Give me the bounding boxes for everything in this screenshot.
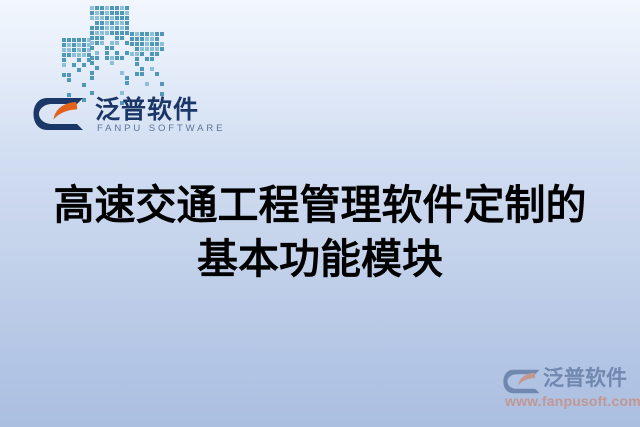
fanpu-logo-name-cn: 泛普软件 bbox=[95, 96, 199, 124]
fanpu-logo-lockup: 泛普软件 FANPU SOFTWARE bbox=[33, 96, 193, 140]
watermark: 泛普软件 www.fanpusoft.com bbox=[503, 366, 637, 418]
fanpu-logo-mark-watermark-icon bbox=[503, 369, 541, 394]
pixel-skyline-graphic bbox=[58, 2, 168, 92]
page-title: 高速交通工程管理软件定制的 基本功能模块 bbox=[0, 178, 640, 286]
fanpu-logo-name-en: FANPU SOFTWARE bbox=[97, 123, 225, 134]
watermark-url: www.fanpusoft.com bbox=[505, 393, 640, 409]
banner-image: 泛普软件 FANPU SOFTWARE 高速交通工程管理软件定制的 基本功能模块… bbox=[0, 0, 640, 427]
fanpu-logo-mark bbox=[33, 97, 85, 131]
watermark-name-cn: 泛普软件 bbox=[543, 366, 627, 392]
page-title-line-1: 高速交通工程管理软件定制的 bbox=[0, 178, 640, 232]
page-title-line-2: 基本功能模块 bbox=[0, 232, 640, 286]
